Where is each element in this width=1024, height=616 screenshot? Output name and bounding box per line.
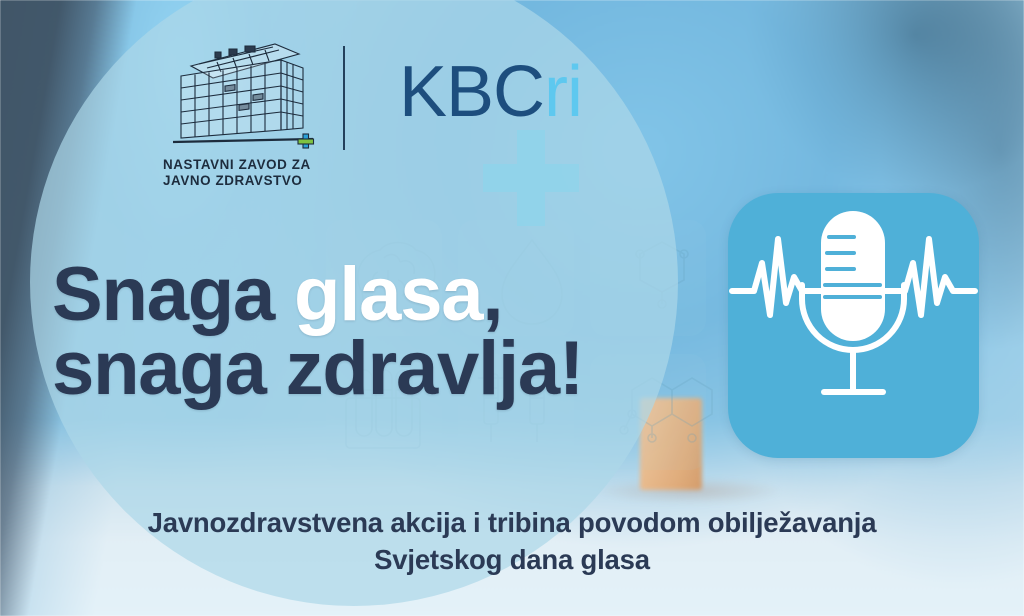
headline-comma: , xyxy=(482,252,502,337)
nzjz-logo: NASTAVNI ZAVOD ZA JAVNO ZDRAVSTVO xyxy=(163,42,323,190)
kbc-light-text: ri xyxy=(544,52,582,132)
headline-line-2: snaga zdravlja! xyxy=(52,332,583,406)
microphone-tile xyxy=(728,193,979,458)
small-cross-icon xyxy=(298,134,314,148)
logo-divider xyxy=(343,46,345,150)
headline-part-1: Snaga xyxy=(52,252,294,337)
microphone-waveform-icon xyxy=(728,193,979,458)
headline-highlight: glasa xyxy=(294,252,482,337)
caption: Javnozdravstvena akcija i tribina povodo… xyxy=(0,505,1024,578)
kbc-logo: KBCri xyxy=(399,42,582,128)
headline: Snaga glasa, snaga zdravlja! xyxy=(52,258,583,407)
kbc-wordmark: KBCri xyxy=(399,56,582,128)
nzjz-label: NASTAVNI ZAVOD ZA JAVNO ZDRAVSTVO xyxy=(163,157,323,190)
headline-line-1: Snaga glasa, xyxy=(52,258,583,332)
poster-canvas: NASTAVNI ZAVOD ZA JAVNO ZDRAVSTVO KBCri … xyxy=(0,0,1024,616)
medical-cross-icon xyxy=(483,130,579,226)
kbc-dark-text: KBC xyxy=(399,52,544,132)
caption-line-2: Svjetskog dana glasa xyxy=(0,542,1024,579)
caption-line-1: Javnozdravstvena akcija i tribina povodo… xyxy=(0,505,1024,542)
logo-row: NASTAVNI ZAVOD ZA JAVNO ZDRAVSTVO KBCri xyxy=(163,42,582,190)
